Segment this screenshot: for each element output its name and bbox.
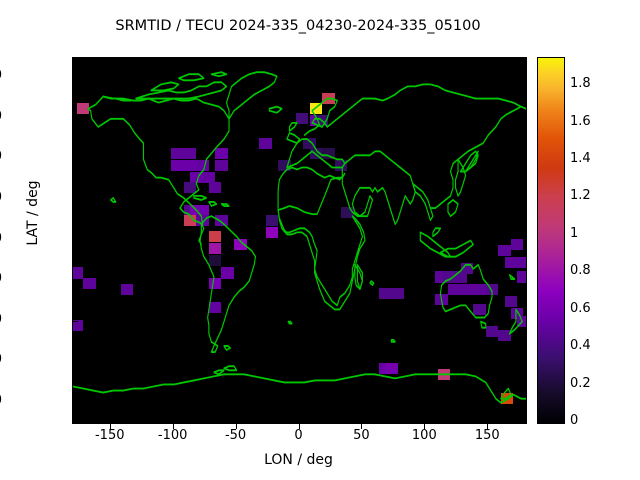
heatmap-cell [316, 115, 329, 126]
colorbar-tick-label: 0.6 [570, 301, 591, 316]
heatmap-cell [335, 160, 348, 171]
heatmap-cell [511, 239, 524, 250]
y-tick-label: 40 [0, 149, 2, 164]
heatmap-cell [221, 267, 234, 278]
heatmap-cell [72, 320, 83, 331]
colorbar-tick-label: 0.2 [570, 376, 591, 391]
heatmap-cell [517, 271, 527, 282]
heatmap-cell [442, 271, 455, 282]
heatmap-cell [486, 326, 499, 337]
y-tick-mark [72, 199, 78, 200]
y-tick-mark [72, 321, 78, 322]
heatmap-cell [438, 369, 451, 380]
heatmap-cell [72, 267, 83, 278]
y-tick-label: 0 [0, 231, 2, 246]
x-tick-label: -150 [80, 428, 140, 443]
heatmap-cell [391, 288, 404, 299]
y-tick-mark [72, 77, 78, 78]
colorbar-tick-label: 1.8 [570, 76, 591, 91]
heatmap-cell [448, 284, 461, 295]
y-tick-mark [72, 158, 78, 159]
heatmap-cell [209, 302, 222, 313]
heatmap-cell [266, 215, 279, 226]
heatmap-cell [184, 160, 197, 171]
chart-title: SRMTID / TECU 2024-335_04230-2024-335_05… [0, 18, 596, 34]
map-plot-area [72, 57, 527, 424]
y-tick-label: -40 [0, 312, 2, 327]
heatmap-cell [209, 243, 222, 254]
y-tick-label: 60 [0, 109, 2, 124]
x-tick-label: -100 [143, 428, 203, 443]
heatmap-cell [461, 284, 474, 295]
heatmap-cell [473, 284, 486, 295]
heatmap-cell [171, 148, 184, 159]
y-tick-label: 80 [0, 68, 2, 83]
heatmap-cell [517, 316, 527, 327]
colorbar-tick-label: 0 [570, 413, 578, 428]
heatmap-cell [259, 138, 272, 149]
heatmap-cell [209, 182, 222, 193]
heatmap-cell [517, 257, 527, 268]
heatmap-cell [171, 160, 184, 171]
heatmap-cell [77, 103, 90, 114]
y-tick-mark [72, 361, 78, 362]
heatmap-cell [196, 160, 209, 171]
heatmap-cell [209, 231, 222, 242]
heatmap-cell [215, 215, 228, 226]
y-tick-label: 20 [0, 190, 2, 205]
x-tick-label: 50 [331, 428, 391, 443]
y-tick-label: -80 [0, 393, 2, 408]
heatmap-cell [473, 304, 486, 315]
colorbar-tick-label: 1.2 [570, 188, 591, 203]
x-tick-label: -50 [206, 428, 266, 443]
heatmap-cell [196, 215, 209, 226]
heatmap-cell [278, 160, 291, 171]
heatmap-cell [310, 148, 323, 159]
heatmap-cell [379, 288, 392, 299]
y-axis-label: LAT / deg [25, 153, 41, 273]
y-tick-mark [72, 118, 78, 119]
colorbar-tick-label: 1.4 [570, 151, 591, 166]
figure-canvas: SRMTID / TECU 2024-335_04230-2024-335_05… [0, 0, 640, 480]
x-tick-label: 0 [269, 428, 329, 443]
heatmap-cell [322, 148, 335, 159]
heatmap-cell [486, 284, 499, 295]
y-tick-mark [72, 402, 78, 403]
heatmap-cell [322, 93, 335, 104]
heatmap-cell [461, 263, 474, 274]
heatmap-cell [215, 148, 228, 159]
heatmap-cell [209, 278, 222, 289]
heatmap-cell [266, 227, 279, 238]
heatmap-cell [121, 284, 134, 295]
y-tick-mark [72, 280, 78, 281]
heatmap-cell [234, 239, 247, 250]
x-axis-label: LON / deg [72, 452, 525, 468]
heatmap-cell [385, 363, 398, 374]
heatmap-cell [184, 182, 197, 193]
x-tick-label: 150 [457, 428, 517, 443]
heatmap-cell [435, 294, 448, 305]
heatmap-cell [498, 330, 511, 341]
heatmap-cell [209, 255, 222, 266]
heatmap-cell [215, 160, 228, 171]
colorbar [537, 57, 565, 424]
heatmap-cell [498, 245, 511, 256]
heatmap-cell [501, 393, 514, 404]
colorbar-tick-label: 1.6 [570, 114, 591, 129]
y-tick-label: -20 [0, 271, 2, 286]
heatmap-cell [184, 215, 197, 226]
colorbar-tick-label: 0.8 [570, 263, 591, 278]
heatmap-cell [505, 257, 518, 268]
colorbar-tick-label: 1 [570, 226, 578, 241]
y-tick-mark [72, 240, 78, 241]
heatmap-cell [341, 207, 354, 218]
x-tick-label: 100 [394, 428, 454, 443]
heatmap-cell [296, 113, 309, 124]
heatmap-cells-layer [73, 58, 526, 423]
y-tick-label: -60 [0, 352, 2, 367]
heatmap-cell [310, 103, 323, 114]
heatmap-cell [83, 278, 96, 289]
heatmap-cell [505, 296, 518, 307]
colorbar-tick-label: 0.4 [570, 338, 591, 353]
heatmap-cell [184, 148, 197, 159]
